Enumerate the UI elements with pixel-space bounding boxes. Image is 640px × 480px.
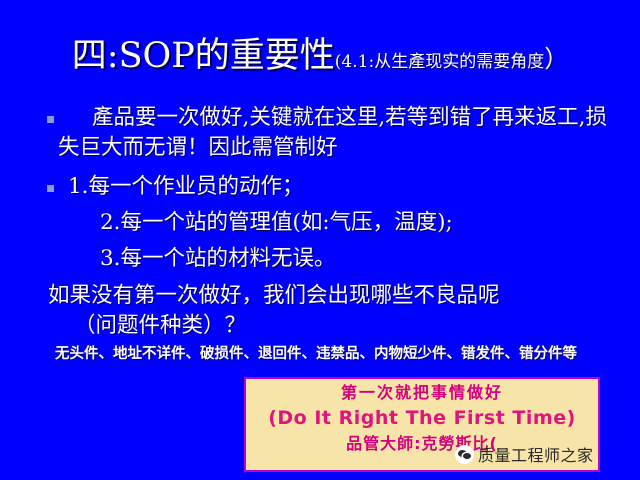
callout-line-chinese: 第一次就把事情做好 xyxy=(246,382,598,404)
bullet-paragraph-1: 產品要一次做好,关键就在这里,若等到错了再来返工,损失巨大而无谓！因此需管制好 xyxy=(58,103,618,163)
page-title: 四:SOP的重要性(4.1:从生產现实的需要角度） xyxy=(0,36,640,76)
defect-type-list: 无头件、地址不详件、破损件、退回件、违禁品、内物短少件、错发件、错分件等 xyxy=(55,345,610,364)
title-closing-paren: ） xyxy=(544,45,568,73)
callout-line-english: (Do It Right The First Time) xyxy=(246,404,598,432)
square-bullet-icon xyxy=(47,116,54,123)
title-subtitle-text: (4.1:从生產现实的需要角度 xyxy=(335,52,544,72)
question-line-1: 如果没有第一次做好，我们会出现哪些不良品呢 xyxy=(48,283,500,308)
question-line-2: （问题件种类）？ xyxy=(48,311,618,341)
watermark-label: 质量工程师之家 xyxy=(478,442,594,466)
title-main-text: 四:SOP的重要性 xyxy=(72,36,335,76)
square-bullet-icon xyxy=(47,185,54,192)
question-block: 如果没有第一次做好，我们会出现哪些不良品呢 （问题件种类）？ xyxy=(48,281,618,341)
numbered-item-2: 2.每一个站的管理值(如:气压，温度); xyxy=(100,208,453,238)
numbered-item-3: 3.每一个站的材料无误。 xyxy=(100,244,336,274)
numbered-item-1: 1.每一个作业员的动作； xyxy=(68,172,304,202)
watermark: 质量工程师之家 xyxy=(455,442,594,466)
slide-canvas: 四:SOP的重要性(4.1:从生產现实的需要角度） 產品要一次做好,关键就在这里… xyxy=(0,0,640,480)
wechat-icon xyxy=(455,445,474,464)
